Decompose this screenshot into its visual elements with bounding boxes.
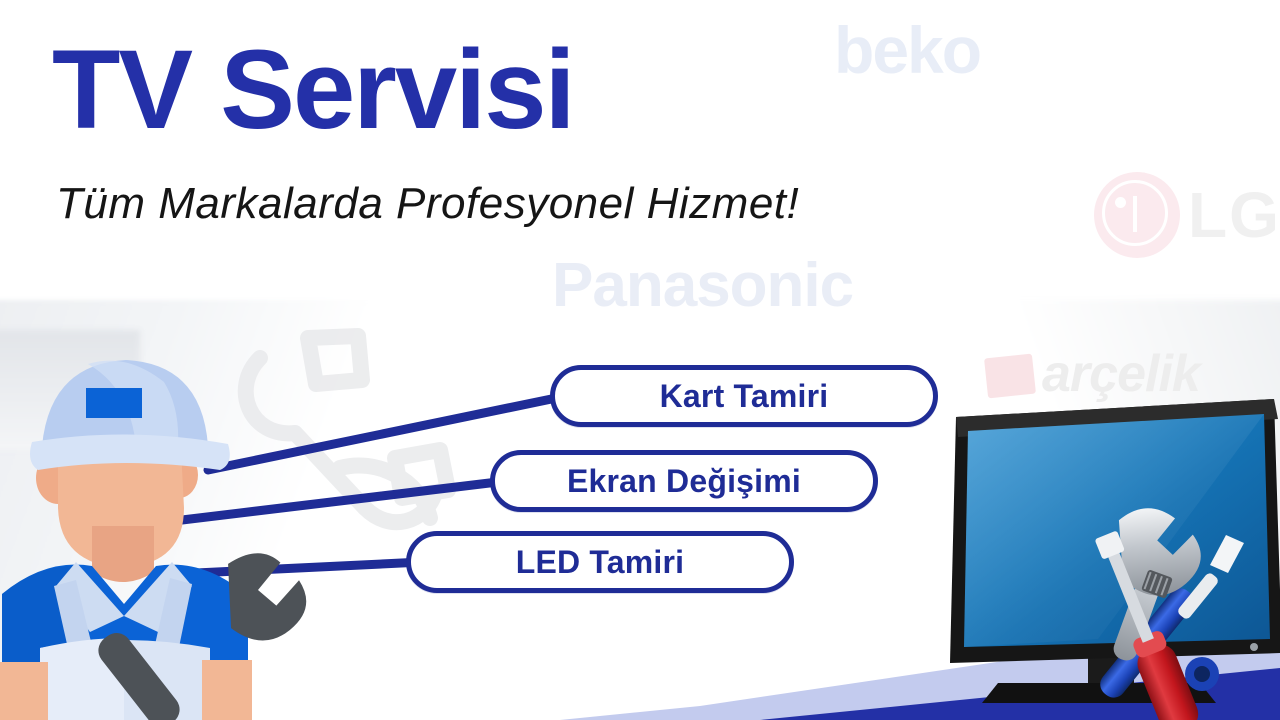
service-pill-label: Ekran Değişimi: [567, 463, 801, 500]
watermark-lg-label: LG: [1188, 178, 1280, 252]
watermark-lg: LG: [1086, 166, 1280, 266]
tv-power-led: [1250, 643, 1258, 651]
technician-illustration: [0, 330, 326, 720]
lg-ring-icon: [1102, 180, 1168, 246]
lg-nose-icon: [1133, 196, 1137, 232]
service-pill-ekran-degisimi[interactable]: Ekran Değişimi: [490, 450, 878, 512]
arcelik-mark-icon: [984, 354, 1036, 399]
technician-cap-badge: [86, 388, 142, 418]
lg-eye-icon: [1115, 197, 1126, 208]
service-pill-label: Kart Tamiri: [660, 378, 829, 415]
technician-arm-left: [0, 662, 48, 720]
page-subtitle: Tüm Markalarda Profesyonel Hizmet!: [56, 182, 799, 226]
watermark-beko: beko: [834, 12, 980, 88]
lg-face-icon: [1094, 172, 1180, 258]
technician-arm-right: [202, 660, 252, 720]
service-pill-led-tamiri[interactable]: LED Tamiri: [406, 531, 794, 593]
watermark-panasonic: Panasonic: [552, 250, 853, 321]
technician-neck: [92, 526, 154, 582]
television-and-tools: [938, 395, 1280, 720]
service-pill-kart-tamiri[interactable]: Kart Tamiri: [550, 365, 938, 427]
tv-service-banner: beko Panasonic LG arçelik TV Servisi Tüm…: [0, 0, 1280, 720]
page-title: TV Servisi: [52, 34, 574, 146]
service-pill-label: LED Tamiri: [516, 544, 685, 581]
